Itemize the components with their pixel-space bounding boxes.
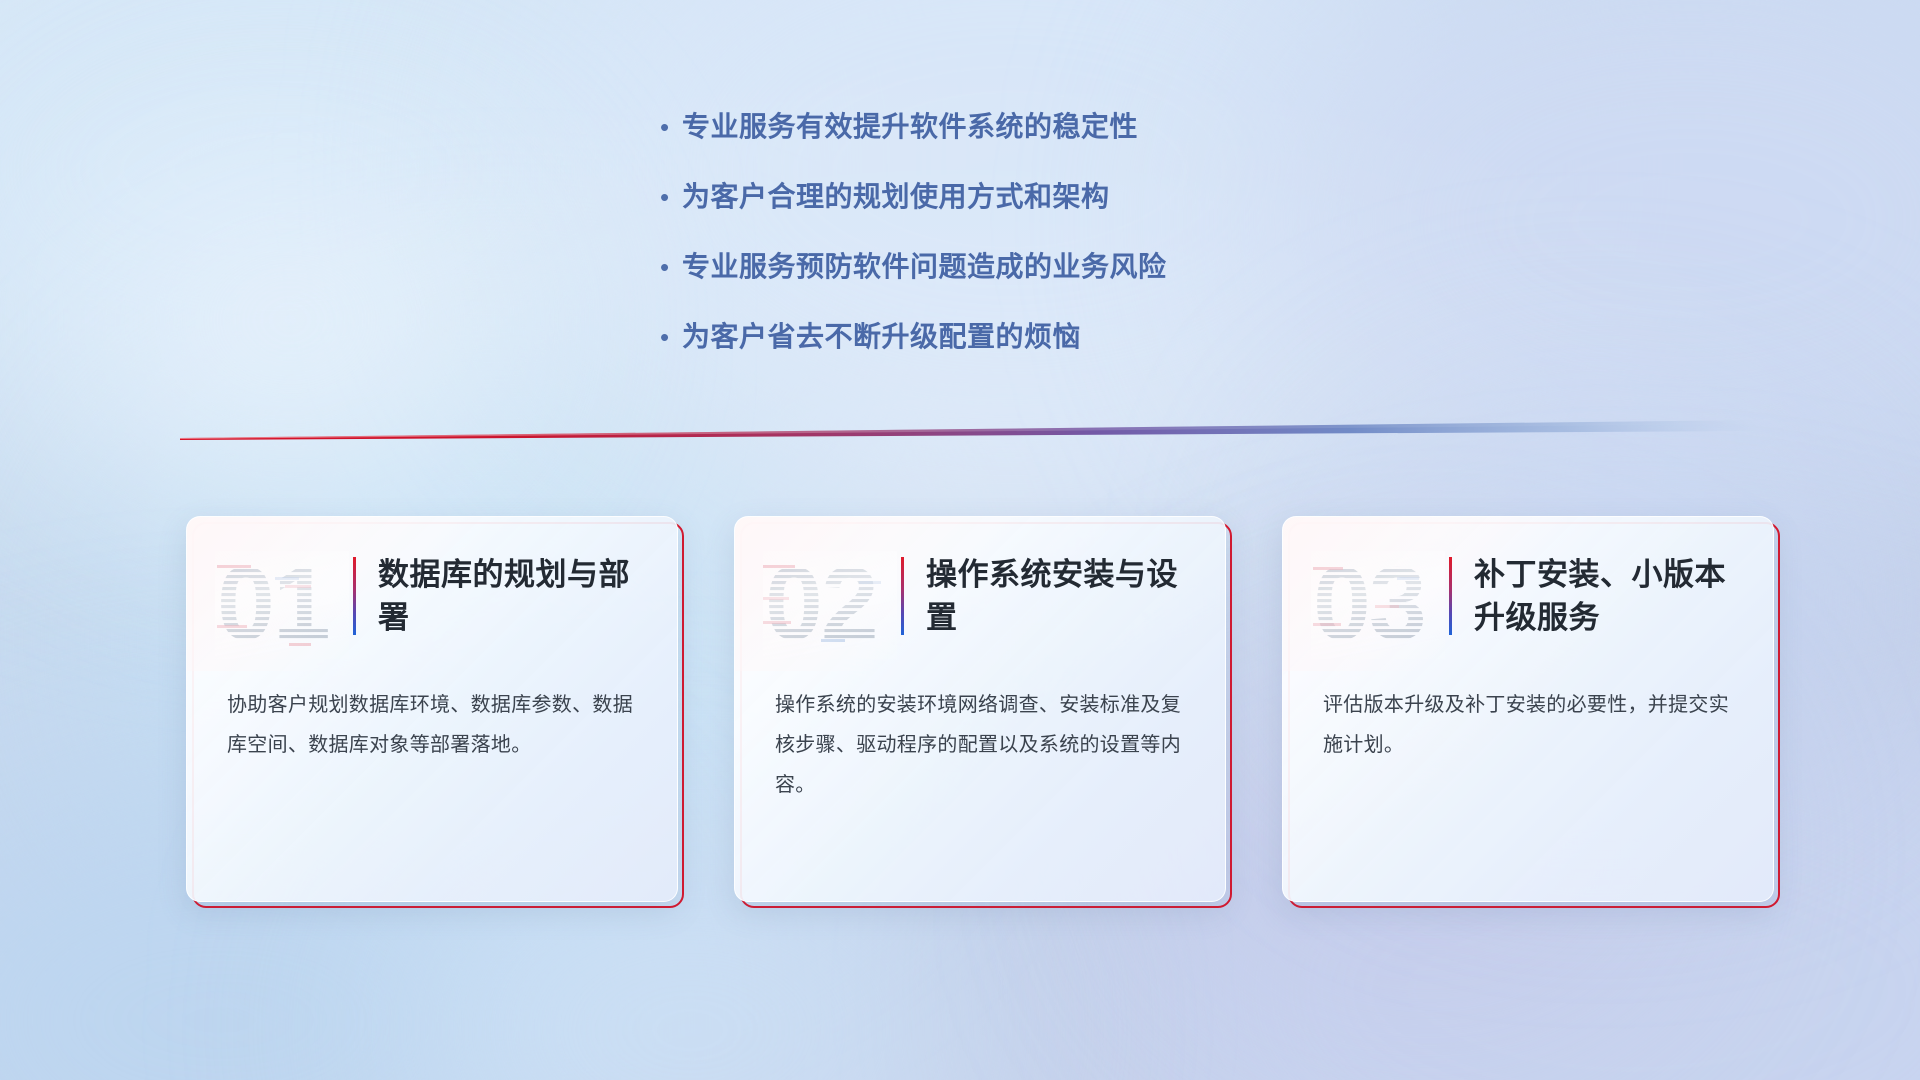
- card-surface: 02 操作系统安装与设置 操作系统的安装环境网络调查、安装标准及复核步骤、驱动程…: [734, 516, 1226, 902]
- card-description: 操作系统的安装环境网络调查、安装标准及复核步骤、驱动程序的配置以及系统的设置等内…: [735, 659, 1225, 805]
- card-surface: 03 补丁安装、小版本升级服务 评估版本升级及补丁安装的必要性，并提交实施计划。: [1282, 516, 1774, 902]
- benefits-bullet-list: • 专业服务有效提升软件系统的稳定性 • 为客户合理的规划使用方式和架构 • 专…: [660, 108, 1420, 388]
- list-item: • 专业服务预防软件问题造成的业务风险: [660, 248, 1420, 286]
- card-title: 补丁安装、小版本升级服务: [1474, 551, 1747, 639]
- card-header: 02 操作系统安装与设置: [735, 517, 1225, 659]
- card-accent-bar: [1449, 557, 1452, 635]
- card-accent-bar: [901, 557, 904, 635]
- bullet-text: 为客户省去不断升级配置的烦恼: [682, 318, 1081, 356]
- card-number-watermark-01: 01: [215, 551, 349, 659]
- card-header: 01 数据库的规划与部署: [187, 517, 677, 659]
- bullet-dot-icon: •: [660, 108, 682, 146]
- card-accent-bar: [353, 557, 356, 635]
- list-item: • 为客户省去不断升级配置的烦恼: [660, 318, 1420, 356]
- bullet-text: 专业服务预防软件问题造成的业务风险: [682, 248, 1167, 286]
- list-item: • 专业服务有效提升软件系统的稳定性: [660, 108, 1420, 146]
- card-description: 评估版本升级及补丁安装的必要性，并提交实施计划。: [1283, 659, 1773, 765]
- bullet-dot-icon: •: [660, 248, 682, 286]
- list-item: • 为客户合理的规划使用方式和架构: [660, 178, 1420, 216]
- section-divider: [180, 416, 1760, 442]
- card-description: 协助客户规划数据库环境、数据库参数、数据库空间、数据库对象等部署落地。: [187, 659, 677, 765]
- bullet-text: 专业服务有效提升软件系统的稳定性: [682, 108, 1138, 146]
- service-card[interactable]: 01 数据库的规划与部署 协助客户规划数据库环境、数据库参数、数据库空间、数据库…: [186, 516, 678, 902]
- card-surface: 01 数据库的规划与部署 协助客户规划数据库环境、数据库参数、数据库空间、数据库…: [186, 516, 678, 902]
- service-card[interactable]: 02 操作系统安装与设置 操作系统的安装环境网络调查、安装标准及复核步骤、驱动程…: [734, 516, 1226, 902]
- service-card[interactable]: 03 补丁安装、小版本升级服务 评估版本升级及补丁安装的必要性，并提交实施计划。: [1282, 516, 1774, 902]
- card-number-watermark-02: 02: [763, 551, 897, 659]
- bullet-text: 为客户合理的规划使用方式和架构: [682, 178, 1110, 216]
- bullet-dot-icon: •: [660, 178, 682, 216]
- bullet-dot-icon: •: [660, 318, 682, 356]
- card-title: 数据库的规划与部署: [378, 551, 651, 639]
- card-header: 03 补丁安装、小版本升级服务: [1283, 517, 1773, 659]
- card-number-watermark-03: 03: [1311, 551, 1445, 659]
- card-title: 操作系统安装与设置: [926, 551, 1199, 639]
- service-card-list: 01 数据库的规划与部署 协助客户规划数据库环境、数据库参数、数据库空间、数据库…: [186, 516, 1774, 902]
